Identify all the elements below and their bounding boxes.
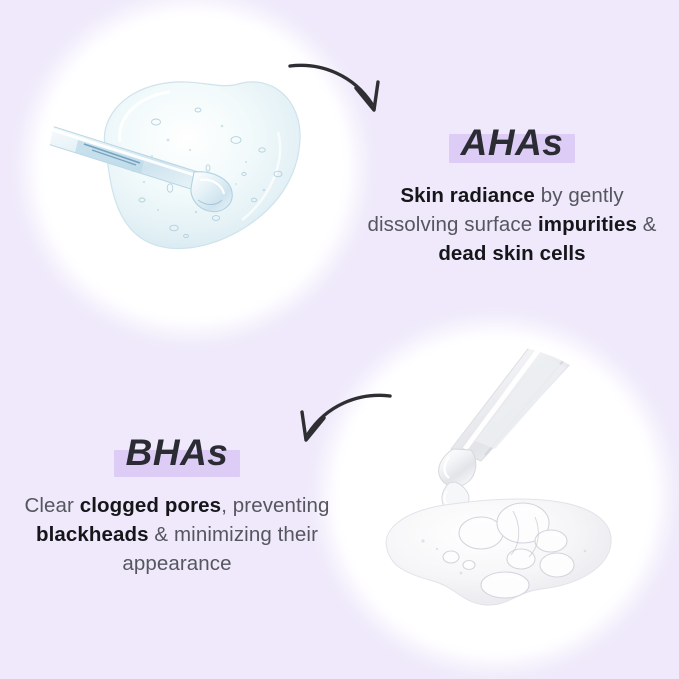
bha-text-2: , preventing: [221, 494, 329, 517]
bha-body-copy: Clear clogged pores, preventing blackhea…: [18, 491, 336, 578]
aha-body-copy: Skin radiance by gently dissolving surfa…: [362, 181, 662, 268]
aha-emphasis-1: Skin radiance: [400, 184, 535, 207]
aha-heading: AHAs: [449, 122, 576, 165]
aha-text-2: &: [637, 213, 657, 236]
curved-arrow-left-down-icon: [272, 382, 392, 462]
bha-text-1: Clear: [24, 494, 79, 517]
bha-heading-label: BHAs: [126, 432, 229, 473]
aha-text-block: AHAs Skin radiance by gently dissolving …: [362, 122, 662, 268]
gel-puddle: [386, 499, 611, 605]
aha-emphasis-3: dead skin cells: [438, 242, 585, 265]
bha-emphasis-1: clogged pores: [80, 494, 221, 517]
aha-heading-label: AHAs: [461, 122, 564, 163]
dropper-pipette: [439, 319, 595, 511]
bha-text-3: & minimizing their appearance: [122, 523, 318, 575]
bha-emphasis-2: blackheads: [36, 523, 149, 546]
bha-heading: BHAs: [114, 432, 241, 475]
aha-emphasis-2: impurities: [538, 213, 637, 236]
infographic-canvas: AHAs Skin radiance by gently dissolving …: [0, 0, 679, 679]
curved-arrow-right-down-icon: [288, 52, 408, 132]
